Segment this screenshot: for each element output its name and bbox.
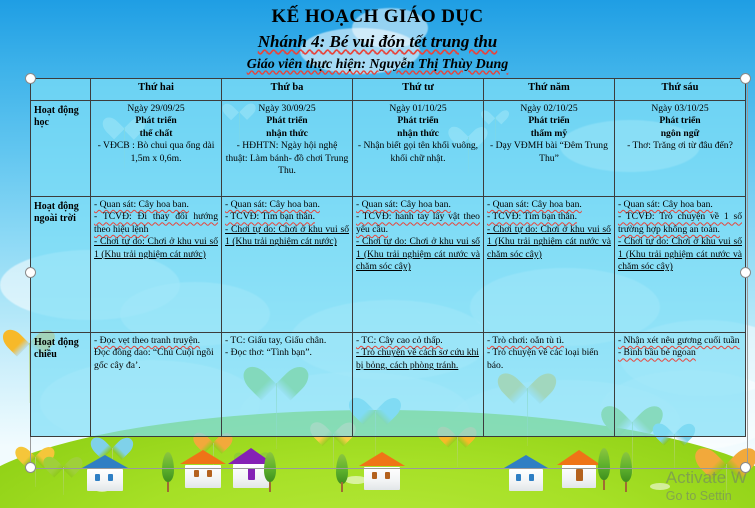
cell-body: - Nhận biết gọi tên khối vuông, khối chữ… (356, 140, 480, 165)
header-day-0: Thứ hai (91, 79, 222, 101)
activity-line-1: - Trò chơi: oẳn tù tì. (487, 335, 611, 347)
cell-title-2: thẩm mỹ (487, 128, 611, 140)
education-plan-table-wrapper[interactable]: Thứ hai Thứ ba Thứ tư Thứ năm Thứ sáu Ho… (30, 78, 746, 437)
activity-line-1: - TC: Giấu tay, Giấu chân. (225, 335, 349, 347)
cell-hoc-thu-tu[interactable]: Ngày 01/10/25 Phát triển nhận thức - Nhậ… (353, 101, 484, 197)
activity-line-2: - TCVĐ: Đi thay đổi hướng theo hiệu lệnh (94, 211, 218, 236)
cell-title-1: Phát triển (487, 115, 611, 127)
activity-line-1: - Quan sát: Cây hoa ban. (225, 199, 349, 211)
row-label-hoat-dong-chieu: Hoạt động chiều (31, 333, 91, 437)
cell-title-2: thể chất (94, 128, 218, 140)
page-title: KẾ HOẠCH GIÁO DỤC (0, 5, 755, 29)
selection-handle-top-right[interactable] (740, 73, 751, 84)
cell-chieu-thu-ba[interactable]: - TC: Giấu tay, Giấu chân. - Đọc thơ: “T… (222, 333, 353, 437)
cell-title-2: nhận thức (225, 128, 349, 140)
windows-activation-watermark: Activate W Go to Settin (666, 467, 747, 505)
header-day-4: Thứ sáu (614, 79, 745, 101)
cell-body: - Dạy VĐMH bài “Đêm Trung Thu” (487, 140, 611, 165)
house-icon (185, 450, 221, 488)
selection-handle-bottom-right[interactable] (740, 462, 751, 473)
cell-ngoaitroi-thu-ba[interactable]: - Quan sát: Cây hoa ban. - TCVĐ: Tìm bạn… (222, 197, 353, 333)
cell-title-1: Phát triển (94, 115, 218, 127)
selection-handle-mid-right[interactable] (740, 267, 751, 278)
activity-line-2: - Bình bầu bé ngoan (618, 347, 742, 359)
activity-line-2: - TCVĐ: hanh tay lấy vật theo yêu cầu. (356, 211, 480, 236)
activity-line-3: - Chơi tự do: Chơi ở khu vui số 1 (Khu t… (618, 236, 742, 273)
table-row: Hoạt động học Ngày 29/09/25 Phát triển t… (31, 101, 746, 197)
activity-line-3: - Chơi tự do: Chơi ở khu vui số 1 (Khu t… (487, 224, 611, 261)
activity-line-1: - Quan sát: Cây hoa ban. (618, 199, 742, 211)
row-label-hoat-dong-hoc: Hoạt động học (31, 101, 91, 197)
page-subtitle: Nhánh 4: Bé vui đón tết trung thu (0, 31, 755, 53)
education-plan-table[interactable]: Thứ hai Thứ ba Thứ tư Thứ năm Thứ sáu Ho… (30, 78, 746, 437)
table-header-row: Thứ hai Thứ ba Thứ tư Thứ năm Thứ sáu (31, 79, 746, 101)
house-icon (509, 455, 543, 491)
cell-chieu-thu-nam[interactable]: - Trò chơi: oẳn tù tì. - Trò chuyện về c… (483, 333, 614, 437)
cell-hoc-thu-sau[interactable]: Ngày 03/10/25 Phát triển ngôn ngữ - Thơ:… (614, 101, 745, 197)
house-icon (562, 450, 596, 488)
cell-date: Ngày 29/09/25 (94, 103, 218, 115)
cell-hoc-thu-ba[interactable]: Ngày 30/09/25 Phát triển nhận thức - HĐH… (222, 101, 353, 197)
activity-line-2: - Đọc thơ: “Tình bạn”. (225, 347, 349, 359)
cell-ngoaitroi-thu-nam[interactable]: - Quan sát: Cây hoa ban. - TCVĐ: Tìm bạn… (483, 197, 614, 333)
tree-icon (262, 452, 278, 492)
activity-line-1: - Quan sát: Cây hoa ban. (94, 199, 218, 211)
cell-title-1: Phát triển (356, 115, 480, 127)
activity-line-3: - Chơi tự do: Chơi ở khu vui số 1 (Khu t… (94, 236, 218, 261)
activity-line-2: - Trò chuyện về cách sơ cứu khi bị bỏng,… (356, 347, 480, 372)
cell-ngoaitroi-thu-hai[interactable]: - Quan sát: Cây hoa ban. - TCVĐ: Đi thay… (91, 197, 222, 333)
row-label-hoat-dong-ngoai-troi: Hoạt động ngoài trời (31, 197, 91, 333)
cell-title-1: Phát triển (225, 115, 349, 127)
selection-handle-bottom-left[interactable] (25, 462, 36, 473)
activity-line-1: - Nhận xét nêu gương cuối tuần (618, 335, 742, 347)
activity-line-1: - TC: Cây cao cỏ thấp. (356, 335, 480, 347)
cell-chieu-thu-tu[interactable]: - TC: Cây cao cỏ thấp. - Trò chuyện về c… (353, 333, 484, 437)
cell-title-1: Phát triển (618, 115, 742, 127)
activity-line-2: - TCVĐ: Tìm bạn thân. (225, 211, 349, 223)
cell-chieu-thu-hai[interactable]: - Đọc vẹt theo tranh truyện. Đọc đồng da… (91, 333, 222, 437)
activity-line-2: - TCVĐ: Trò chuyện về 1 số trường hợp kh… (618, 211, 742, 236)
selection-handle-mid-left[interactable] (25, 267, 36, 278)
cell-title-2: nhận thức (356, 128, 480, 140)
header-day-3: Thứ năm (483, 79, 614, 101)
cell-body: - VĐCB : Bò chui qua ống dài 1,5m x 0,6m… (94, 140, 218, 165)
cell-date: Ngày 30/09/25 (225, 103, 349, 115)
header-corner (31, 79, 91, 101)
teacher-line: Giáo viên thực hiện: Nguyễn Thị Thùy Dun… (0, 56, 755, 75)
house-icon (87, 455, 123, 491)
cell-date: Ngày 02/10/25 (487, 103, 611, 115)
table-row: Hoạt động ngoài trời - Quan sát: Cây hoa… (31, 197, 746, 333)
activity-line-3: - Chơi tự do: Chơi ở khu vui số 1 (Khu t… (225, 224, 349, 249)
cell-ngoaitroi-thu-sau[interactable]: - Quan sát: Cây hoa ban. - TCVĐ: Trò chu… (614, 197, 745, 333)
house-icon (364, 452, 400, 490)
activity-line-2: Đọc đồng dao: “Chú Cuội ngồi gốc cây đa’… (94, 347, 218, 372)
tree-icon (618, 452, 633, 492)
tree-icon (334, 454, 349, 492)
activity-line-1: - Quan sát: Cây hoa ban. (487, 199, 611, 211)
activity-line-3: - Chơi tự do: Chơi ở khu vui số 1 (Khu t… (356, 236, 480, 273)
cell-hoc-thu-nam[interactable]: Ngày 02/10/25 Phát triển thẩm mỹ - Dạy V… (483, 101, 614, 197)
watermark-line-2: Go to Settin (666, 488, 747, 504)
document-headings: KẾ HOẠCH GIÁO DỤC Nhánh 4: Bé vui đón tế… (0, 0, 755, 75)
cell-date: Ngày 01/10/25 (356, 103, 480, 115)
cell-title-2: ngôn ngữ (618, 128, 742, 140)
cell-body: - HĐHTN: Ngày hội nghệ thuật: Làm bánh- … (225, 140, 349, 177)
activity-line-1: - Đọc vẹt theo tranh truyện. (94, 335, 218, 347)
activity-line-2: - TCVĐ: Tìm bạn thân. (487, 211, 611, 223)
selection-handle-top-left[interactable] (25, 73, 36, 84)
cell-chieu-thu-sau[interactable]: - Nhận xét nêu gương cuối tuần - Bình bầ… (614, 333, 745, 437)
cell-date: Ngày 03/10/25 (618, 103, 742, 115)
heart-balloon-icon (50, 448, 76, 472)
tree-icon (596, 448, 612, 490)
activity-line-2: - Trò chuyện về các loại biển báo. (487, 347, 611, 372)
header-day-1: Thứ ba (222, 79, 353, 101)
activity-line-1: - Quan sát: Cây hoa ban. (356, 199, 480, 211)
cell-hoc-thu-hai[interactable]: Ngày 29/09/25 Phát triển thể chất - VĐCB… (91, 101, 222, 197)
watermark-line-1: Activate W (666, 467, 747, 488)
tree-icon (160, 452, 176, 492)
table-row: Hoạt động chiều - Đọc vẹt theo tranh tru… (31, 333, 746, 437)
header-day-2: Thứ tư (353, 79, 484, 101)
cell-ngoaitroi-thu-tu[interactable]: - Quan sát: Cây hoa ban. - TCVĐ: hanh ta… (353, 197, 484, 333)
cell-body: - Thơ: Trăng ơi từ đâu đến? (618, 140, 742, 152)
